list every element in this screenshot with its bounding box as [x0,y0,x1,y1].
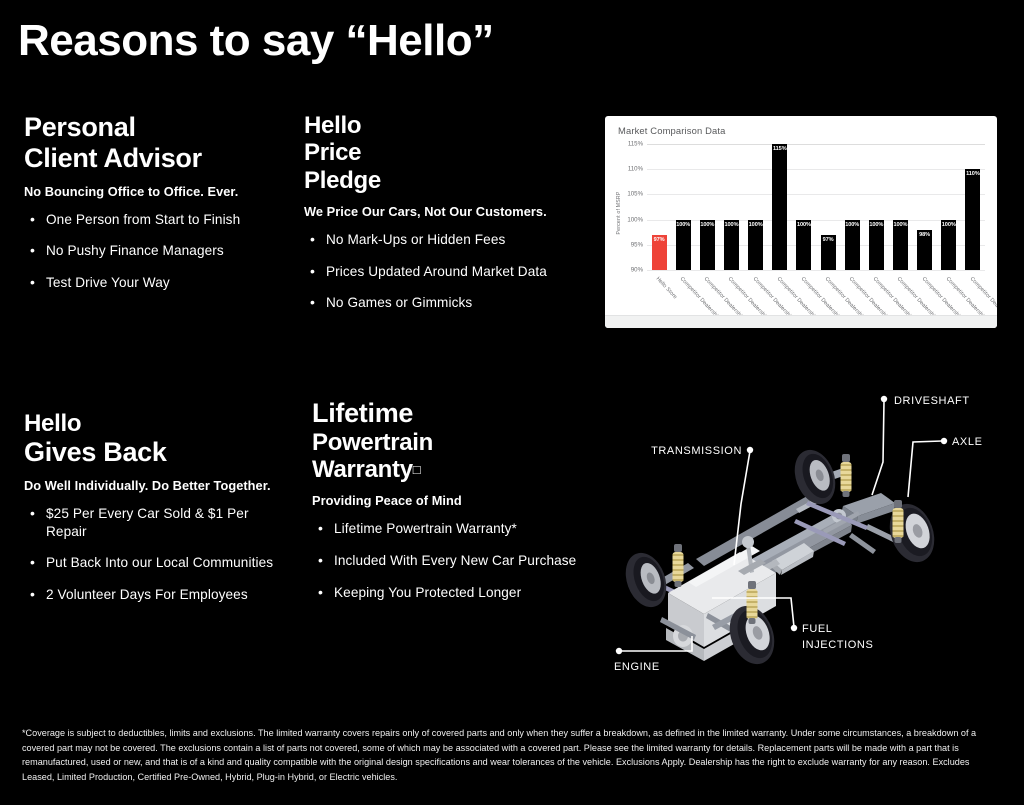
feature-personal-client-advisor: Personal Client Advisor No Bouncing Offi… [24,112,286,306]
feature-heading-line-2: Price [304,139,572,166]
chart-bar-series: 97%100%100%100%100%115%100%97%100%100%10… [647,144,985,270]
chart-bar-slot: 98% [913,144,937,270]
chart-bar-slot: 97% [816,144,840,270]
chart-bar: 97% [821,235,836,270]
chart-bar-value-label: 100% [796,222,811,228]
feature-heading: Lifetime Powertrain Warranty□ [312,398,584,483]
feature-bullet-list: No Mark-Ups or Hidden Fees Prices Update… [304,231,572,312]
chart-bar-value-label: 100% [676,222,691,228]
chart-bar: 100% [724,220,739,270]
footnote-disclaimer: *Coverage is subject to deductibles, lim… [22,726,1002,785]
feature-subheading: We Price Our Cars, Not Our Customers. [304,204,572,219]
callout-label-engine: ENGINE [614,661,660,673]
chart-bar-value-label: 100% [869,222,884,228]
chart-bar-slot: 100% [792,144,816,270]
list-item: Test Drive Your Way [24,274,286,292]
chart-y-tick-label: 90% [631,267,643,274]
chart-bar-slot: 97% [647,144,671,270]
chart-bar-slot: 100% [671,144,695,270]
feature-heading-line-2: Client Advisor [24,143,286,174]
feature-heading-line-3: Warranty□ [312,456,584,483]
chart-bar-value-label: 110% [965,171,980,177]
feature-hello-price-pledge: Hello Price Pledge We Price Our Cars, No… [304,112,572,326]
callout-label-fuel-injections-line-1: FUEL [802,623,833,635]
list-item: Lifetime Powertrain Warranty* [312,520,584,538]
chart-bar-value-label: 100% [893,222,908,228]
feature-heading-line-3: Pledge [304,167,572,194]
chart-y-axis-label: Percent of MSRP [616,178,622,248]
feature-subheading: Providing Peace of Mind [312,493,584,508]
feature-heading-line-1: Hello [24,410,292,437]
chart-bar: 100% [845,220,860,270]
chart-bar: 100% [676,220,691,270]
feature-subheading: No Bouncing Office to Office. Ever. [24,184,286,199]
list-item: No Games or Gimmicks [304,294,572,312]
chart-bar-value-label: 100% [845,222,860,228]
chart-y-tick-label: 110% [628,166,643,173]
market-comparison-chart-card: Market Comparison Data Percent of MSRP 9… [605,116,997,328]
chart-card-footer [605,315,997,328]
chart-bar-value-label: 100% [748,222,763,228]
feature-heading-line-2: Powertrain [312,429,584,456]
chart-bar-value-label: 98% [917,232,932,238]
chart-bar-value-label: 115% [772,146,787,152]
list-item: Keeping You Protected Longer [312,584,584,602]
list-item: No Mark-Ups or Hidden Fees [304,231,572,249]
chart-bar-slot: 100% [888,144,912,270]
chart-title: Market Comparison Data [618,125,726,136]
chart-bar-slot: 100% [840,144,864,270]
feature-heading: Hello Gives Back [24,410,292,468]
list-item: 2 Volunteer Days For Employees [24,586,292,604]
chart-bar-value-label: 97% [821,237,836,243]
chart-bar-value-label: 100% [941,222,956,228]
feature-heading-line-1: Lifetime [312,398,584,429]
chart-bar-slot: 110% [961,144,985,270]
feature-bullet-list: Lifetime Powertrain Warranty* Included W… [312,520,584,601]
feature-hello-gives-back: Hello Gives Back Do Well Individually. D… [24,410,292,618]
chart-y-tick-label: 115% [628,141,643,148]
list-item: No Pushy Finance Managers [24,242,286,260]
chart-y-tick-label: 95% [631,241,643,248]
chart-bar: 110% [965,169,980,270]
list-item: Prices Updated Around Market Data [304,263,572,281]
list-item: $25 Per Every Car Sold & $1 Per Repair [24,505,292,540]
chart-bar-slot: 115% [768,144,792,270]
feature-heading: Hello Price Pledge [304,112,572,194]
feature-subheading: Do Well Individually. Do Better Together… [24,478,292,493]
chart-bar-slot: 100% [744,144,768,270]
callout-label-axle: AXLE [952,436,983,448]
chart-bar-slot: 100% [719,144,743,270]
chart-y-tick-label: 100% [627,216,643,223]
chart-bar: 100% [796,220,811,270]
feature-bullet-list: $25 Per Every Car Sold & $1 Per Repair P… [24,505,292,604]
feature-heading: Personal Client Advisor [24,112,286,174]
chart-bar-value-label: 97% [652,237,667,243]
chart-bar: 100% [748,220,763,270]
page-title: Reasons to say “Hello” [18,18,494,64]
feature-bullet-list: One Person from Start to Finish No Pushy… [24,211,286,292]
chart-gridline [647,270,985,271]
chart-bar-highlighted: 97% [652,235,667,270]
chassis-diagram: DRIVESHAFT AXLE TRANSMISSION FUEL INJECT… [600,385,1024,680]
feature-heading-line-3-text: Warranty [312,456,413,483]
chart-bar: 98% [917,230,932,270]
chart-bar: 115% [772,144,787,270]
chart-y-tick-label: 105% [627,191,643,198]
feature-heading-line-2: Gives Back [24,437,292,468]
list-item: Put Back Into our Local Communities [24,554,292,572]
callout-label-transmission: TRANSMISSION [651,445,742,457]
chart-bar: 100% [869,220,884,270]
chart-bar: 100% [893,220,908,270]
chart-bar: 100% [700,220,715,270]
feature-heading-line-1: Personal [24,112,286,143]
chart-bar-value-label: 100% [724,222,739,228]
chart-bars-region: 90%95%100%105%110%115% 97%100%100%100%10… [647,144,985,270]
callout-label-driveshaft: DRIVESHAFT [894,395,970,407]
chart-bar-value-label: 100% [700,222,715,228]
feature-heading-line-1: Hello [304,112,572,139]
feature-lifetime-powertrain-warranty: Lifetime Powertrain Warranty□ Providing … [312,398,584,616]
chart-plot-area: Percent of MSRP 90%95%100%105%110%115% 9… [605,138,997,310]
callout-label-fuel-injections-line-2: INJECTIONS [802,639,873,651]
list-item: Included With Every New Car Purchase [312,552,584,570]
chart-bar-slot: 100% [864,144,888,270]
chart-bar-slot: 100% [937,144,961,270]
list-item: One Person from Start to Finish [24,211,286,229]
chart-bar: 100% [941,220,956,270]
chart-bar-slot: 100% [695,144,719,270]
missing-glyph-icon: □ [413,463,421,478]
